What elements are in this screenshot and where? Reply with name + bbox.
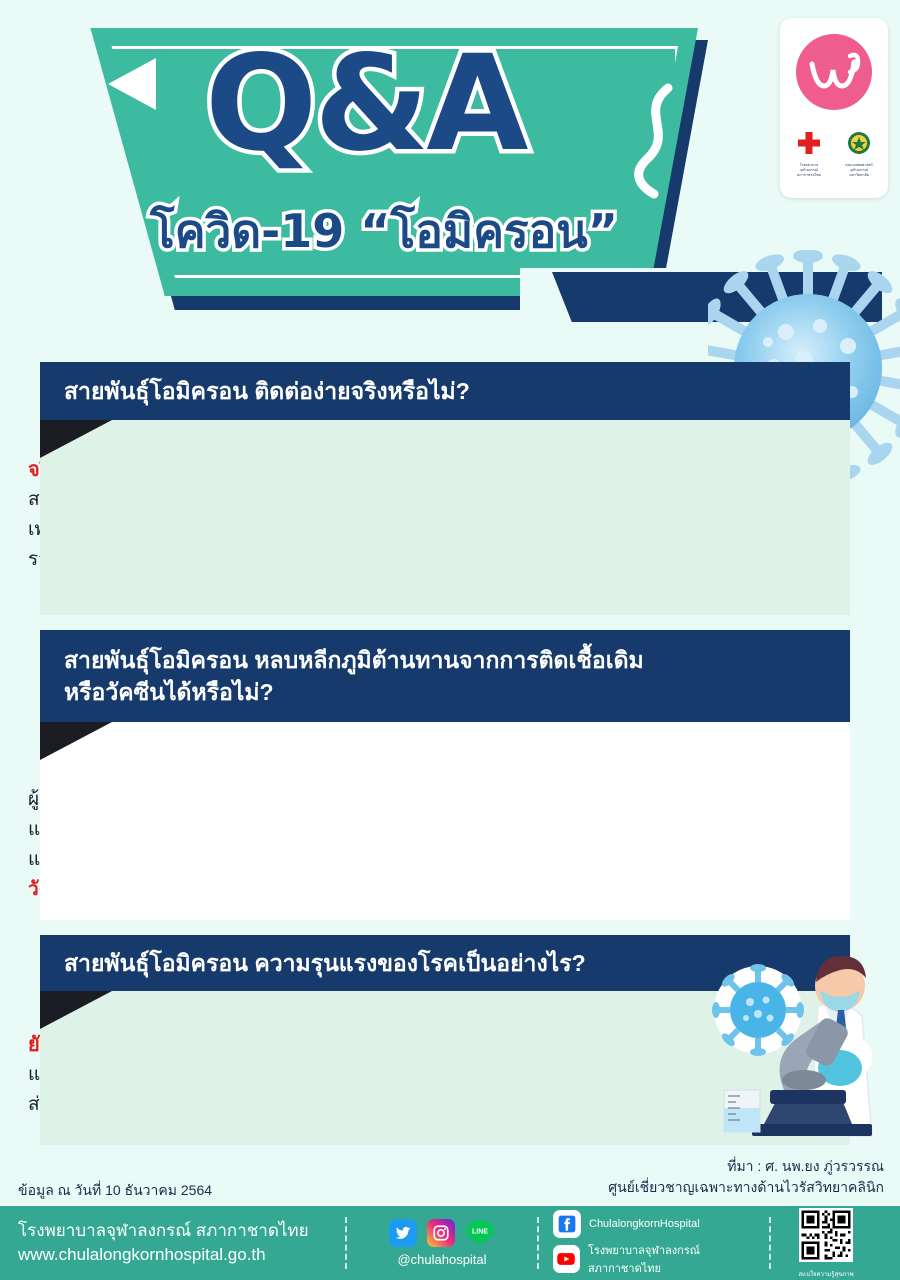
qr-block: สแนใจความรู้สุขภาพ <box>771 1208 881 1279</box>
squiggle-icon <box>628 82 688 202</box>
hospital-website[interactable]: www.chulalongkornhospital.go.th <box>18 1243 345 1267</box>
source-note: ที่มา : ศ. นพ.ยง ภู่วรวรรณ ศูนย์เชี่ยวชา… <box>608 1156 884 1198</box>
youtube-row[interactable]: โรงพยาบาลจุฬาลงกรณ์ สภากาชาดไทย <box>553 1241 769 1277</box>
footer-bar: โรงพยาบาลจุฬาลงกรณ์ สภากาชาดไทย www.chul… <box>0 1206 900 1280</box>
line-icon[interactable]: LINE <box>465 1219 495 1247</box>
hospital-name: โรงพยาบาลจุฬาลงกรณ์ สภากาชาดไทย <box>18 1219 345 1243</box>
question-bar-2: สายพันธุ์โอมิครอน หลบหลีกภูมิต้านทานจากก… <box>40 630 850 722</box>
scientist-microscope-illustration <box>700 948 900 1146</box>
facebook-icon[interactable] <box>553 1210 581 1238</box>
faculty-caption: คณะแพทยศาสตร์ จุฬาลงกรณ์มหาวิทยาลัย <box>841 163 877 178</box>
red-cross-icon <box>796 130 822 156</box>
facebook-name: ChulalongkornHospital <box>589 1218 700 1230</box>
qr-code-icon[interactable] <box>799 1208 853 1262</box>
corner-fold-1 <box>40 420 112 458</box>
facebook-row[interactable]: ChulalongkornHospital <box>553 1210 769 1238</box>
red-cross-logo: โรงพยาบาลจุฬาลงกรณ์ สภากาชาดไทย <box>791 130 827 178</box>
question-bar-1: สายพันธุ์โอมิครอน ติดต่อง่ายจริงหรือไม่? <box>40 362 850 420</box>
corner-fold-3 <box>40 991 112 1029</box>
source-line-2: ศูนย์เชี่ยวชาญเฉพาะทางด้านไวรัสวิทยาคลิน… <box>608 1177 884 1198</box>
question-text-3: สายพันธุ์โอมิครอน ความรุนแรงของโรคเป็นอย… <box>64 947 586 979</box>
data-date: ข้อมูล ณ วันที่ 10 ธันวาคม 2564 <box>18 1180 212 1202</box>
youtube-icon[interactable] <box>553 1245 580 1273</box>
chula-w-monogram-icon <box>796 34 872 110</box>
play-triangle-icon <box>108 58 156 110</box>
svg-text:LINE: LINE <box>472 1229 488 1236</box>
organization-logo-card: โรงพยาบาลจุฬาลงกรณ์ สภากาชาดไทย คณะแพทยศ… <box>780 18 888 198</box>
footer-social-block: LINE @chulahospital <box>347 1219 537 1267</box>
red-cross-caption: โรงพยาบาลจุฬาลงกรณ์ สภากาชาดไทย <box>791 163 827 178</box>
faculty-emblem-icon <box>846 130 872 156</box>
twitter-icon[interactable] <box>389 1219 417 1247</box>
instagram-icon[interactable] <box>427 1219 455 1247</box>
source-line-1: ที่มา : ศ. นพ.ยง ภู่วรวรรณ <box>608 1156 884 1177</box>
page-title: Q&A <box>205 38 525 170</box>
page-subtitle: โควิด-19 “โอมิครอน” <box>150 205 618 257</box>
social-handle: @chulahospital <box>347 1252 537 1267</box>
youtube-name: โรงพยาบาลจุฬาลงกรณ์ สภากาชาดไทย <box>588 1241 769 1277</box>
corner-fold-2 <box>40 722 112 760</box>
qr-caption: สแนใจความรู้สุขภาพ <box>771 1269 881 1279</box>
footer-pages-block: ChulalongkornHospital โรงพยาบาลจุฬาลงกรณ… <box>539 1207 769 1280</box>
question-text-2-line1: สายพันธุ์โอมิครอน หลบหลีกภูมิต้านทานจากก… <box>64 644 644 676</box>
answer-body-1 <box>40 415 850 615</box>
answer-body-2 <box>40 722 850 920</box>
footer-hospital-block: โรงพยาบาลจุฬาลงกรณ์ สภากาชาดไทย www.chul… <box>0 1219 345 1267</box>
faculty-logo: คณะแพทยศาสตร์ จุฬาลงกรณ์มหาวิทยาลัย <box>841 130 877 178</box>
question-text-2-line2: หรือวัคซีนได้หรือไม่? <box>64 676 274 708</box>
question-text-1: สายพันธุ์โอมิครอน ติดต่อง่ายจริงหรือไม่? <box>64 375 470 407</box>
